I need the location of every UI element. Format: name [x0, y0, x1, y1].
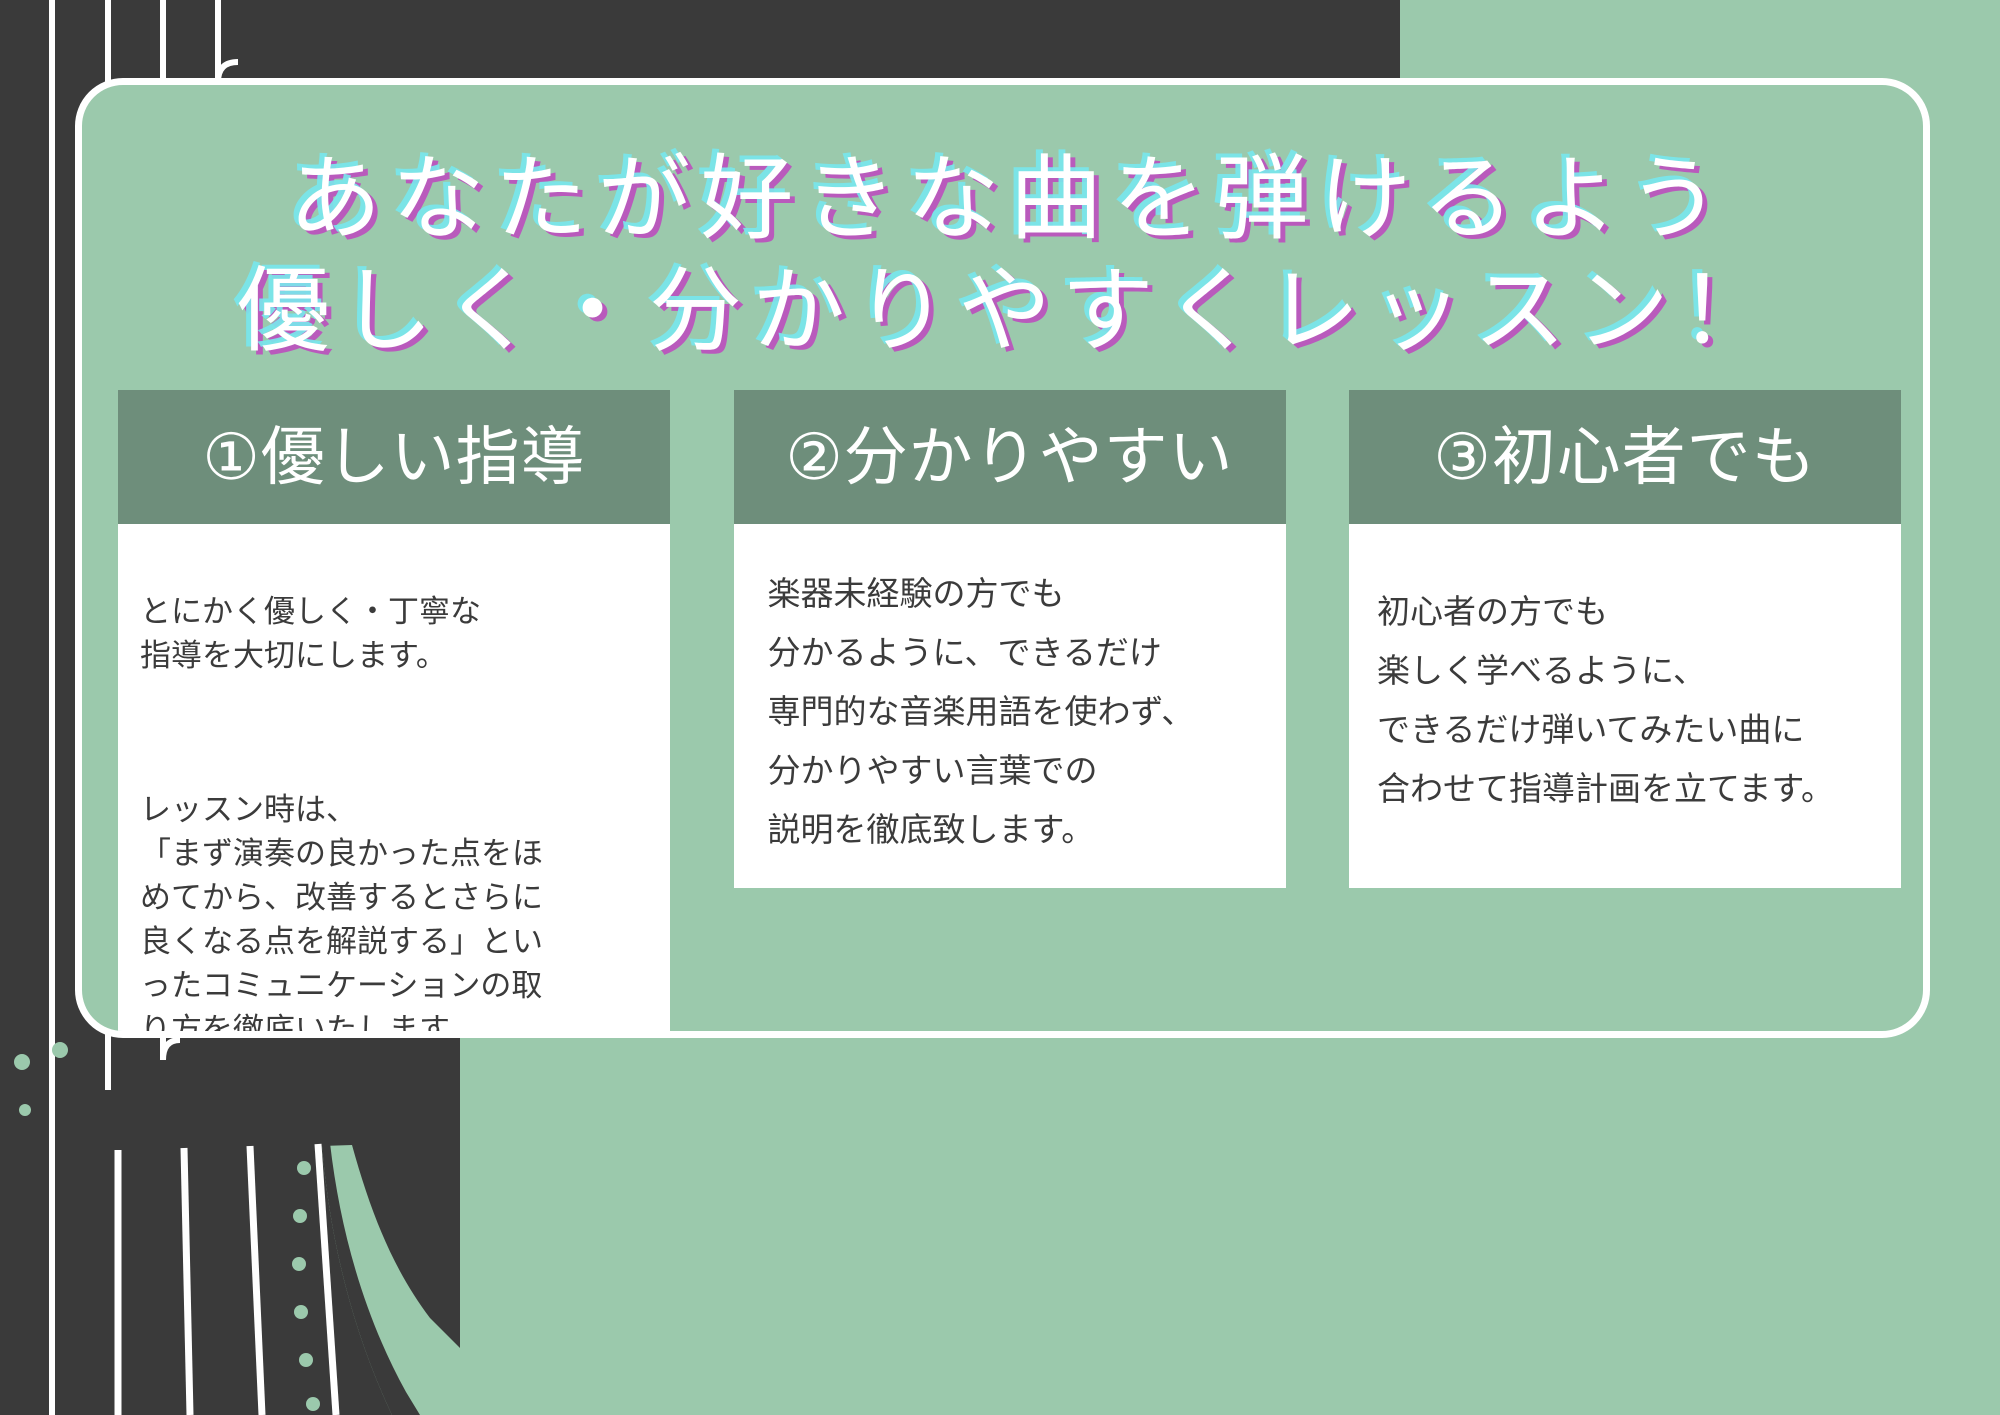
feature-card-3-body: 初心者の方でも 楽しく学べるように、 できるだけ弾いてみたい曲に 合わせて指導計… — [1349, 524, 1901, 888]
feature-card-1-paragraph-1: とにかく優しく・丁寧な 指導を大切にします。 — [140, 590, 648, 678]
main-panel: あなたが好きな曲を弾けるよう 優しく・分かりやすくレッスン！ ①優しい指導 とに… — [75, 78, 1930, 1038]
feature-card-2: ②分かりやすい 楽器未経験の方でも 分かるように、できるだけ 専門的な音楽用語を… — [734, 390, 1286, 888]
feature-card-3: ③初心者でも 初心者の方でも 楽しく学べるように、 できるだけ弾いてみたい曲に … — [1349, 390, 1901, 888]
feature-card-1: ①優しい指導 とにかく優しく・丁寧な 指導を大切にします。 レッスン時は、 「ま… — [118, 390, 670, 1038]
feature-card-1-paragraph-2: レッスン時は、 「まず演奏の良かった点をほ めてから、改善するとさらに 良くなる… — [140, 788, 648, 1038]
background-green-bottom — [300, 1035, 2000, 1415]
poster-canvas: あなたが好きな曲を弾けるよう 優しく・分かりやすくレッスン！ ①優しい指導 とに… — [0, 0, 2000, 1415]
feature-card-1-body: とにかく優しく・丁寧な 指導を大切にします。 レッスン時は、 「まず演奏の良かっ… — [118, 524, 670, 1038]
feature-cards: ①優しい指導 とにかく優しく・丁寧な 指導を大切にします。 レッスン時は、 「ま… — [118, 390, 1901, 1038]
paragraph-spacer — [140, 722, 648, 744]
feature-card-3-header: ③初心者でも — [1349, 390, 1901, 524]
page-title: あなたが好きな曲を弾けるよう 優しく・分かりやすくレッスン！ — [82, 143, 1930, 367]
feature-card-2-body: 楽器未経験の方でも 分かるように、できるだけ 専門的な音楽用語を使わず、 分かり… — [734, 524, 1286, 888]
feature-card-1-header: ①優しい指導 — [118, 390, 670, 524]
feature-card-2-header: ②分かりやすい — [734, 390, 1286, 524]
